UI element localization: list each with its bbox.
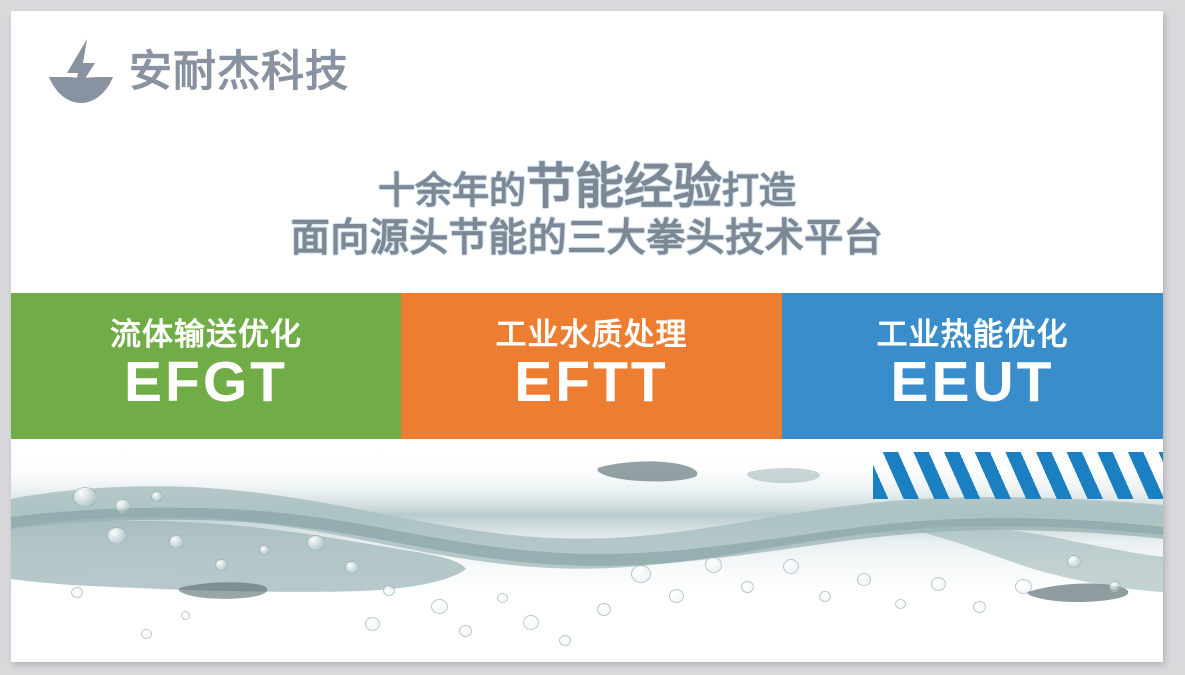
water-splash-photo xyxy=(11,439,1163,662)
bubble xyxy=(215,559,228,571)
bubble xyxy=(597,603,611,616)
bubble xyxy=(141,629,152,639)
headline-block: 十余年的节能经验打造 面向源头节能的三大拳头技术平台 xyxy=(11,161,1163,260)
headline-line-1: 十余年的节能经验打造 xyxy=(11,161,1163,214)
bubble xyxy=(259,545,270,555)
technology-platform-bands: 流体输送优化 EFGT 工业水质处理 EFTT 工业热能优化 EEUT xyxy=(11,293,1163,439)
band-eftt-title: 工业水质处理 xyxy=(496,319,688,352)
bubble xyxy=(181,611,190,620)
headline-line1-emphasis: 节能经验 xyxy=(526,160,722,214)
band-efgt-code: EFGT xyxy=(124,353,288,413)
bubble xyxy=(365,617,380,631)
bubble xyxy=(169,535,184,549)
bubble xyxy=(931,577,946,591)
bubble xyxy=(107,527,127,545)
band-efgt[interactable]: 流体输送优化 EFGT xyxy=(11,293,401,439)
bubble xyxy=(1015,579,1032,594)
bubble xyxy=(669,589,684,603)
band-eftt-code: EFTT xyxy=(514,353,668,413)
bubble xyxy=(115,499,131,513)
bubble xyxy=(151,491,163,502)
band-eeut-code: EEUT xyxy=(890,353,1054,413)
bubble xyxy=(1067,555,1081,568)
bubble xyxy=(857,573,871,586)
bubble xyxy=(71,587,83,598)
band-eeut-title: 工业热能优化 xyxy=(877,319,1069,352)
bubble xyxy=(705,557,722,573)
bubble xyxy=(345,561,359,574)
headline-line1-prefix: 十余年的 xyxy=(378,170,526,211)
company-logo[interactable]: 安耐杰科技 xyxy=(45,37,349,107)
bubble xyxy=(973,601,986,613)
headline-line1-suffix: 打造 xyxy=(722,170,796,211)
bubble xyxy=(783,559,799,574)
bubble xyxy=(459,625,472,637)
water-wave-shapes xyxy=(11,439,1163,662)
band-eftt[interactable]: 工业水质处理 EFTT xyxy=(401,293,782,439)
bubble xyxy=(73,487,97,507)
band-eeut[interactable]: 工业热能优化 EEUT xyxy=(782,293,1163,439)
band-efgt-title: 流体输送优化 xyxy=(110,319,302,352)
bubble xyxy=(631,565,651,583)
slide-canvas: 安耐杰科技 十余年的节能经验打造 面向源头节能的三大拳头技术平台 流体输送优化 … xyxy=(11,11,1163,662)
company-name: 安耐杰科技 xyxy=(129,51,349,94)
bubble xyxy=(819,591,831,602)
lightning-bolt-arc-icon xyxy=(45,37,117,107)
bubble xyxy=(523,615,539,630)
bubble xyxy=(497,593,508,603)
bubble xyxy=(383,585,395,596)
bubble xyxy=(895,599,906,609)
bubble xyxy=(1109,581,1121,592)
bubble xyxy=(741,581,754,593)
headline-line-2: 面向源头节能的三大拳头技术平台 xyxy=(11,218,1163,260)
bubble xyxy=(431,599,448,614)
bubble xyxy=(559,635,571,646)
bubble xyxy=(307,535,325,551)
